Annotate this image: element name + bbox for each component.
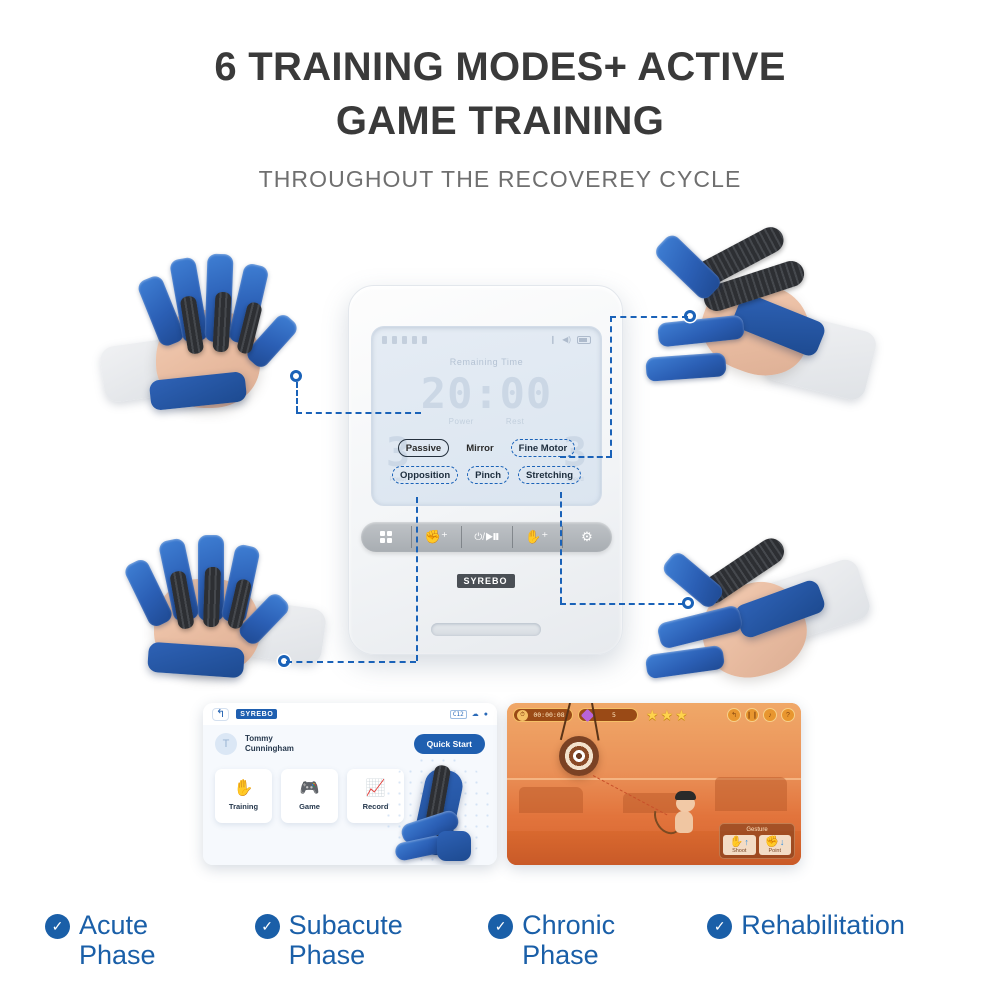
phase-rehabilitation-label: Rehabilitation: [741, 910, 905, 940]
callout-line-right-bot-v: [560, 492, 562, 603]
training-modes-group: Passive Mirror Fine Motor Opposition Pin…: [386, 439, 587, 493]
app-top-bar: ↰ SYREBO C12 ☁ ●: [203, 703, 497, 725]
app-tiles: ✋ Training 🎮 Game 📈 Record: [215, 769, 404, 823]
mode-mirror[interactable]: Mirror: [458, 439, 501, 457]
battery-icon: [577, 336, 591, 344]
app-glove-illustration: [383, 755, 493, 865]
mesa-right: [715, 777, 787, 811]
clock-icon: ⏱: [517, 710, 528, 721]
game-screenshot-panel: ⏱ 00:00:08 5 ★ ★ ★ ↰ ❙❙ ♪ ?: [507, 703, 801, 865]
phase-acute: ✓ AcutePhase: [45, 910, 255, 970]
remaining-time-label: Remaining Time: [372, 357, 601, 367]
header: 6 TRAINING MODES+ ACTIVE GAME TRAINING T…: [0, 0, 1000, 193]
mesa-left: [519, 787, 583, 813]
gesture-shoot-label: Shoot: [723, 848, 756, 854]
screenshot-panels: ↰ SYREBO C12 ☁ ● T Tommy Cunningham Quic…: [0, 703, 1000, 871]
game-score: 5: [597, 711, 631, 719]
fist-plus-icon: ✊⁺: [425, 529, 448, 545]
user-profile[interactable]: T Tommy Cunningham: [215, 733, 294, 755]
open-hand-plus-icon: ✋⁺: [525, 529, 548, 545]
volume-icon: ◀): [562, 336, 571, 344]
callout-node-left-top: [290, 370, 302, 382]
callout-line-right-top-h2: [560, 456, 612, 458]
avatar: T: [215, 733, 237, 755]
callout-line-right-top-h: [610, 316, 688, 318]
tile-game-label: Game: [299, 802, 320, 811]
tile-training-label: Training: [229, 802, 258, 811]
gear-icon: ⚙: [581, 529, 593, 545]
headline-line-2: GAME TRAINING: [0, 94, 1000, 148]
arrow-up-icon: ↑: [744, 838, 749, 847]
pause-button[interactable]: ❙❙: [745, 708, 759, 722]
gamepad-icon: 🎮: [300, 781, 320, 797]
device-brand-logo: SYREBO: [456, 574, 514, 588]
connection-badge: C12: [450, 710, 467, 719]
headline-line-1: 6 TRAINING MODES+ ACTIVE: [214, 45, 785, 89]
open-hand-button[interactable]: ✋⁺: [512, 522, 562, 552]
app-screenshot-panel: ↰ SYREBO C12 ☁ ● T Tommy Cunningham Quic…: [203, 703, 497, 865]
game-timer: 00:00:08: [532, 711, 566, 719]
glove-bottom-left: [118, 535, 318, 720]
back-button[interactable]: ↰: [727, 708, 741, 722]
device-tray: [431, 623, 541, 636]
device-status-bar: ❙ ◀): [382, 334, 591, 346]
gesture-point-label: Point: [759, 848, 792, 854]
remaining-time-value: 20:00: [372, 369, 601, 418]
quick-start-button[interactable]: Quick Start: [414, 734, 485, 754]
mode-pinch[interactable]: Pinch: [467, 466, 509, 484]
glove-bottom-right: [640, 540, 860, 725]
device-button-bar: ✊⁺ ⏻/▶❙❙ ✋⁺ ⚙: [361, 522, 612, 552]
user-name: Tommy Cunningham: [245, 734, 294, 754]
arrow-down-icon: ↓: [780, 838, 785, 847]
gesture-shoot[interactable]: ✋ ↑ Shoot: [723, 835, 756, 855]
rehab-device: ❙ ◀) Remaining Time 20:00 Power Rest 3 P…: [348, 285, 623, 655]
callout-line-right-top-v: [610, 316, 612, 456]
mode-opposition[interactable]: Opposition: [392, 466, 458, 484]
tile-game[interactable]: 🎮 Game: [281, 769, 338, 823]
glove-top-right: [650, 225, 880, 440]
mode-stretching[interactable]: Stretching: [518, 466, 581, 484]
game-controls: ↰ ❙❙ ♪ ?: [727, 708, 795, 722]
power-play-button[interactable]: ⏻/▶❙❙: [461, 522, 511, 552]
device-screen: ❙ ◀) Remaining Time 20:00 Power Rest 3 P…: [371, 326, 602, 506]
menu-button[interactable]: [361, 522, 411, 552]
star-icon: ★: [646, 708, 659, 722]
open-hand-icon: ✋: [730, 837, 744, 848]
mode-passive[interactable]: Passive: [398, 439, 449, 457]
star-icon: ★: [675, 708, 688, 722]
fist-icon: ✊: [765, 837, 779, 848]
music-button[interactable]: ♪: [763, 708, 777, 722]
check-icon: ✓: [45, 914, 70, 939]
phase-chronic-label: ChronicPhase: [522, 910, 615, 970]
check-icon: ✓: [707, 914, 732, 939]
app-logo: SYREBO: [236, 709, 277, 719]
info-icon: ❙: [549, 336, 556, 344]
gesture-title: Gesture: [723, 827, 791, 833]
callout-line-right-bot-h: [560, 603, 684, 605]
callout-line-left-top-h: [296, 412, 421, 414]
grid-icon: [380, 531, 392, 543]
account-icon[interactable]: ●: [484, 711, 488, 718]
app-body: T Tommy Cunningham Quick Start ✋ Trainin…: [203, 725, 497, 865]
help-button[interactable]: ?: [781, 708, 795, 722]
archer-body: [675, 811, 693, 833]
page-title: 6 TRAINING MODES+ ACTIVE GAME TRAINING: [0, 40, 1000, 148]
glove-top-left: [120, 250, 310, 440]
callout-line-left-top-v: [296, 382, 298, 412]
fist-mode-button[interactable]: ✊⁺: [411, 522, 461, 552]
mode-fine-motor[interactable]: Fine Motor: [511, 439, 576, 457]
game-hud: ⏱ 00:00:08 5 ★ ★ ★: [513, 708, 688, 722]
score-pill: 5: [578, 708, 638, 722]
check-icon: ✓: [255, 914, 280, 939]
back-icon[interactable]: ↰: [212, 708, 229, 721]
user-name-line1: Tommy: [245, 734, 273, 743]
phase-chronic: ✓ ChronicPhase: [488, 910, 707, 970]
power-play-icon: ⏻/▶❙❙: [474, 532, 498, 543]
user-name-line2: Cunningham: [245, 744, 294, 753]
gesture-point[interactable]: ✊ ↓ Point: [759, 835, 792, 855]
hand-icon: ✋: [234, 781, 254, 797]
page-subtitle: THROUGHOUT THE RECOVEREY CYCLE: [0, 166, 1000, 193]
star-icon: ★: [661, 708, 674, 722]
callout-line-left-bot-h: [286, 661, 416, 663]
hero-stage: ❙ ◀) Remaining Time 20:00 Power Rest 3 P…: [0, 215, 1000, 700]
phase-subacute: ✓ SubacutePhase: [255, 910, 488, 970]
rest-label: Rest: [506, 417, 524, 426]
callout-line-left-bot-v: [416, 497, 418, 661]
signal-dots-icon: [382, 336, 427, 344]
tile-training[interactable]: ✋ Training: [215, 769, 272, 823]
phase-acute-label: AcutePhase: [79, 910, 156, 970]
power-label: Power: [449, 417, 474, 426]
cloud-icon[interactable]: ☁: [472, 711, 479, 718]
gesture-panel: Gesture ✋ ↑ Shoot ✊ ↓ Point: [719, 823, 795, 859]
archer-hair: [675, 791, 696, 800]
phase-subacute-label: SubacutePhase: [289, 910, 403, 970]
recovery-phases: ✓ AcutePhase ✓ SubacutePhase ✓ ChronicPh…: [0, 900, 1000, 1000]
settings-button[interactable]: ⚙: [562, 522, 612, 552]
archer-character: [655, 789, 699, 841]
target-icon: [559, 736, 599, 776]
phase-rehabilitation: ✓ Rehabilitation: [707, 910, 955, 940]
check-icon: ✓: [488, 914, 513, 939]
star-rating: ★ ★ ★: [646, 708, 688, 722]
